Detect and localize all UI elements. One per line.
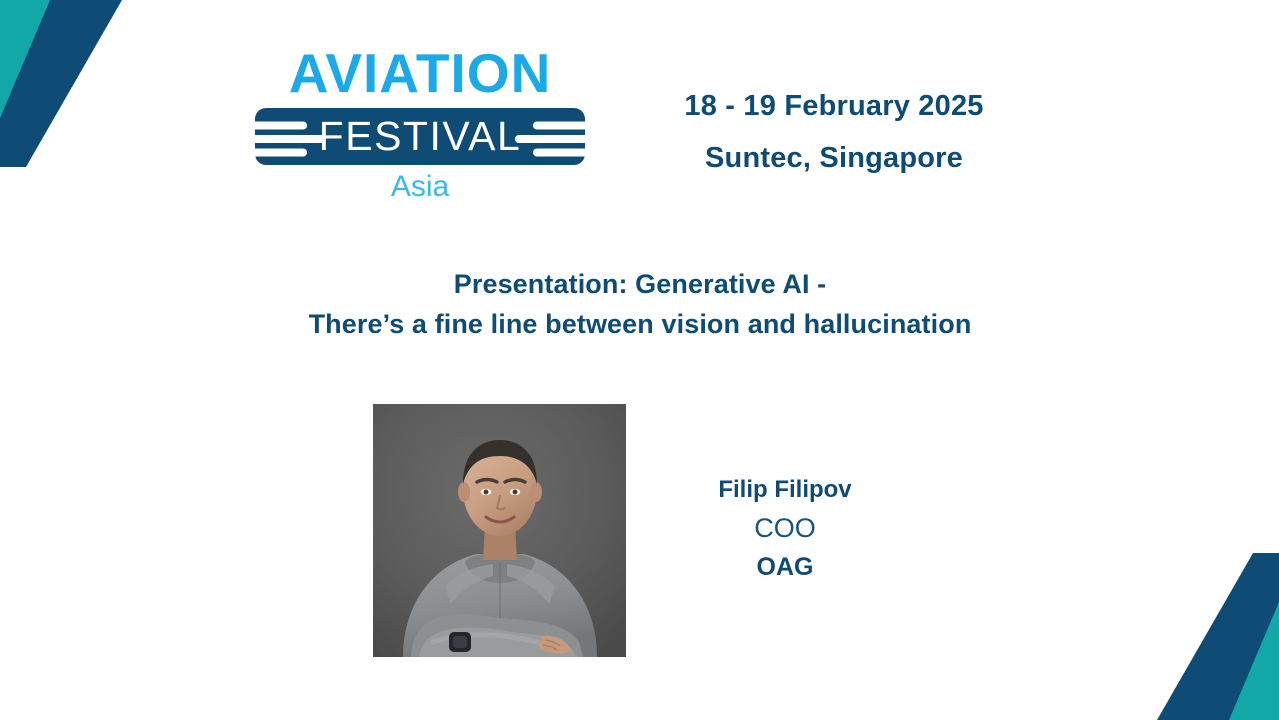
presentation-title: Presentation: Generative AI - There’s a … — [90, 264, 1190, 344]
bottom-right-navy-stripe — [1157, 553, 1279, 720]
speaker-portrait-image — [373, 404, 626, 657]
event-dates: 18 - 19 February 2025 — [600, 84, 1068, 128]
top-left-teal-wedge — [0, 0, 96, 118]
presentation-title-line-2: There’s a fine line between vision and h… — [90, 304, 1190, 344]
event-venue: Suntec, Singapore — [600, 136, 1068, 180]
speaker-photo — [373, 404, 626, 657]
speaker-name: Filip Filipov — [660, 472, 910, 508]
presentation-title-line-1: Presentation: Generative AI - — [90, 264, 1190, 304]
event-info: 18 - 19 February 2025 Suntec, Singapore — [600, 84, 1068, 180]
speaker-role: COO — [660, 508, 910, 548]
speaker-company: OAG — [660, 548, 910, 586]
bottom-right-teal-wedge — [1183, 602, 1279, 720]
logo-speed-band-icon — [255, 108, 585, 165]
logo-aviation-text: AVIATION — [255, 42, 585, 104]
logo-asia-text: Asia — [255, 168, 585, 206]
aviation-festival-asia-logo: AVIATION — [255, 42, 585, 212]
presentation-slide: AVIATION — [0, 0, 1279, 720]
speaker-details: Filip Filipov COO OAG — [660, 472, 910, 586]
top-left-navy-stripe — [0, 0, 122, 167]
logo-festival-band — [255, 108, 585, 165]
